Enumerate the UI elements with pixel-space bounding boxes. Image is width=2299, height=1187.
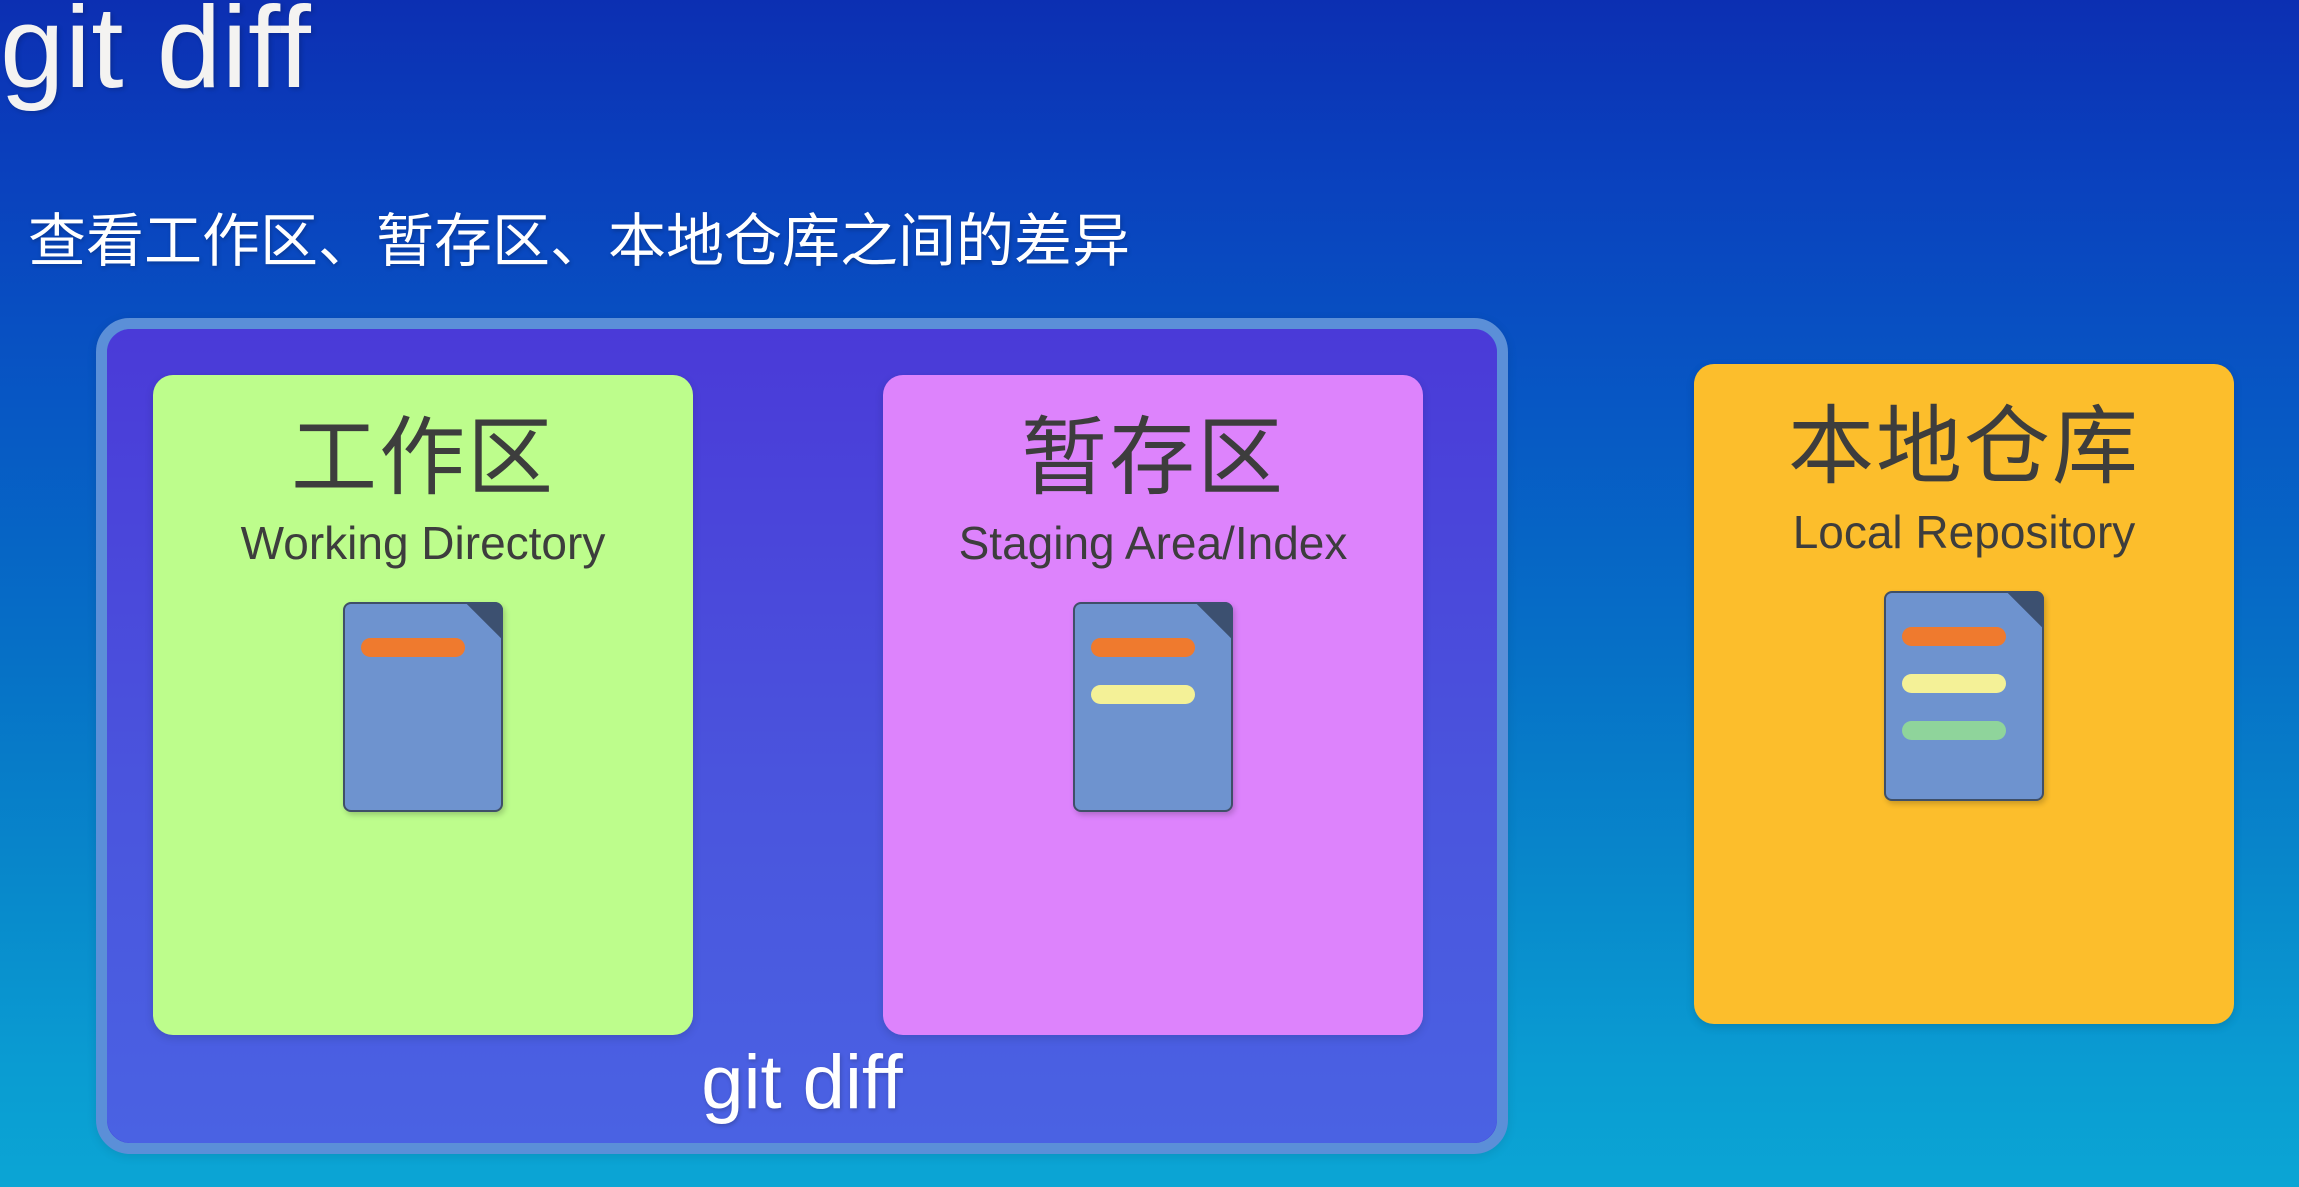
card-title-en-local-repository: Local Repository bbox=[1793, 507, 2136, 558]
group-label-git-diff: git diff bbox=[107, 1045, 1497, 1121]
doc-wrap-local-repository bbox=[1884, 591, 2044, 801]
document-line-1 bbox=[361, 638, 465, 657]
card-title-en-staging-area: Staging Area/Index bbox=[959, 518, 1348, 569]
document-line-2 bbox=[1091, 685, 1195, 704]
card-title-cn-local-repository: 本地仓库 bbox=[1788, 400, 2140, 495]
document-icon bbox=[1884, 591, 2044, 801]
card-title-en-working-directory: Working Directory bbox=[241, 518, 606, 569]
git-diff-group-inner: 工作区 Working Directory 暂存区 Staging Area/I… bbox=[107, 329, 1497, 1143]
document-line-2 bbox=[1902, 674, 2006, 693]
document-icon bbox=[343, 602, 503, 812]
document-line-1 bbox=[1091, 638, 1195, 657]
page-title: git diff bbox=[0, 0, 311, 117]
document-body bbox=[1884, 591, 2044, 801]
git-diff-group-container: 工作区 Working Directory 暂存区 Staging Area/I… bbox=[96, 318, 1508, 1154]
slide-root: git diff 查看工作区、暂存区、本地仓库之间的差异 工作区 Working… bbox=[0, 0, 2299, 1187]
document-body bbox=[343, 602, 503, 812]
card-working-directory[interactable]: 工作区 Working Directory bbox=[153, 375, 693, 1035]
document-line-1 bbox=[1902, 627, 2006, 646]
card-staging-area[interactable]: 暂存区 Staging Area/Index bbox=[883, 375, 1423, 1035]
card-title-cn-staging-area: 暂存区 bbox=[1021, 411, 1285, 506]
document-line-3 bbox=[1902, 721, 2006, 740]
card-local-repository[interactable]: 本地仓库 Local Repository bbox=[1694, 364, 2234, 1024]
document-body bbox=[1073, 602, 1233, 812]
page-subtitle: 查看工作区、暂存区、本地仓库之间的差异 bbox=[28, 206, 1130, 279]
doc-wrap-staging-area bbox=[1073, 602, 1233, 812]
card-title-cn-working-directory: 工作区 bbox=[291, 411, 555, 506]
document-icon bbox=[1073, 602, 1233, 812]
doc-wrap-working-directory bbox=[343, 602, 503, 812]
